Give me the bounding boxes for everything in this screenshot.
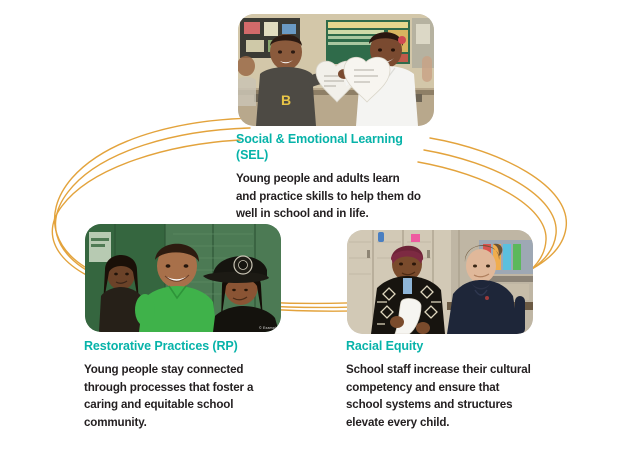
racial-equity-body: School staff increase their cultural com… — [346, 361, 532, 431]
photo-classroom-children-hearts-image: B — [238, 14, 434, 126]
rp-heading: Restorative Practices (RP) — [84, 338, 266, 354]
photo-two-students-conversation-image — [347, 230, 533, 334]
section-rp: Restorative Practices (RP) Young people … — [84, 338, 266, 431]
infographic-canvas: B — [0, 0, 640, 461]
racial-equity-heading: Racial Equity — [346, 338, 532, 354]
photo-two-students-conversation — [347, 230, 533, 334]
photo-watermark: © Example — [259, 326, 278, 330]
photo-classroom-children-hearts: B — [238, 14, 434, 126]
sel-body: Young people and adults learn and practi… — [236, 170, 422, 223]
photo-students-lockers-smiling: © Example — [85, 224, 281, 332]
section-sel: Social & Emotional Learning (SEL) Young … — [236, 131, 422, 223]
rp-body: Young people stay connected through proc… — [84, 361, 266, 431]
sel-heading: Social & Emotional Learning (SEL) — [236, 131, 422, 163]
section-racial-equity: Racial Equity School staff increase thei… — [346, 338, 532, 431]
svg-text:B: B — [281, 92, 291, 108]
photo-students-lockers-smiling-image — [85, 224, 281, 332]
